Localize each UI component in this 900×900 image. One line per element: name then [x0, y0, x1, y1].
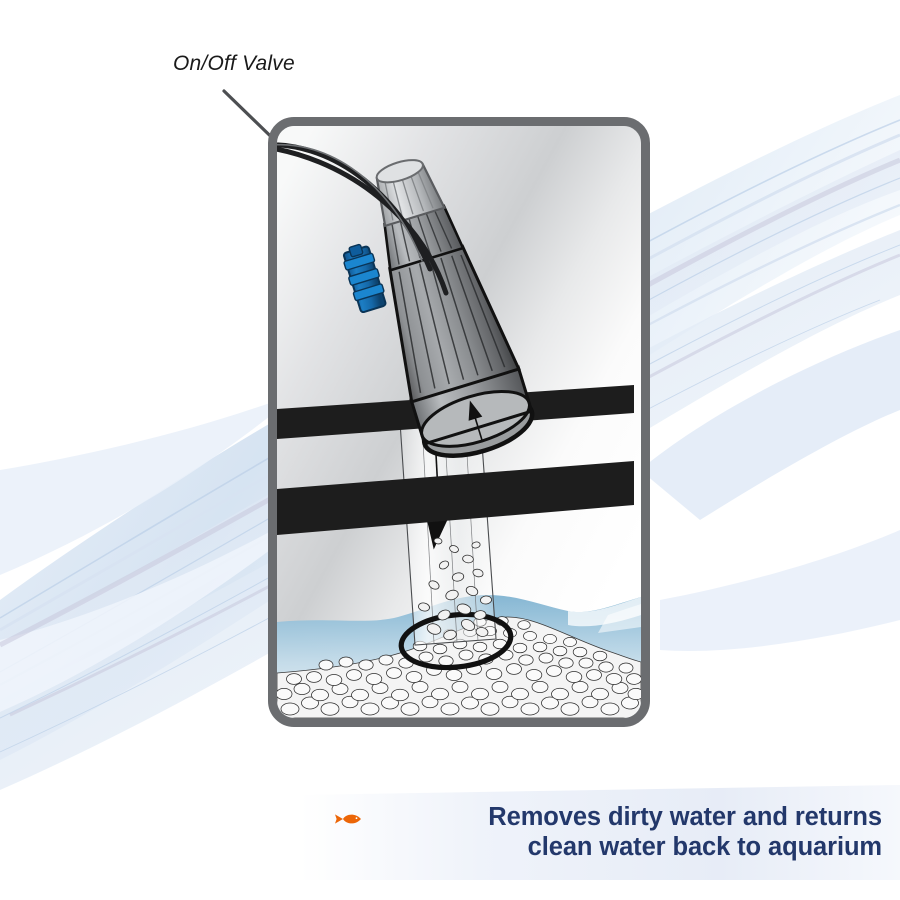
- illustration-page: On/Off Valve: [0, 0, 900, 900]
- panel-artwork: [268, 117, 650, 727]
- caption-line-1: Removes dirty water and returns: [330, 802, 882, 832]
- fish-icon: [334, 811, 364, 827]
- caption-block: Removes dirty water and returns clean wa…: [330, 802, 882, 862]
- illustration-panel: [268, 117, 650, 727]
- caption-line-2: clean water back to aquarium: [330, 832, 882, 862]
- callout-label-on-off-valve: On/Off Valve: [173, 52, 295, 76]
